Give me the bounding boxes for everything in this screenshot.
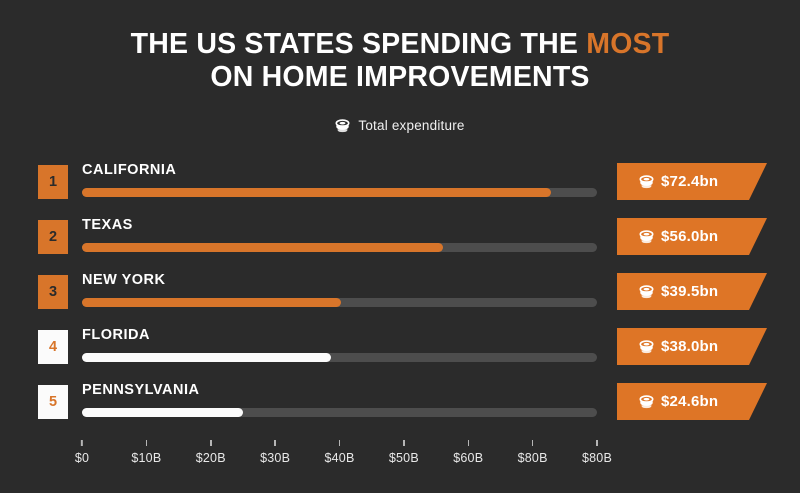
axis-tick: $80B	[582, 440, 612, 465]
coin-stack-icon	[639, 175, 654, 189]
title-accent-word: MOST	[586, 28, 669, 60]
axis-tick-label: $40B	[325, 451, 355, 465]
axis-tick-mark	[403, 440, 405, 446]
axis-tick-label: $0	[75, 451, 89, 465]
x-axis: $0 $10B $20B $30B $40B $50B $60B $80B	[82, 440, 597, 480]
axis-tick: $80B	[518, 440, 548, 465]
coin-stack-icon	[335, 119, 350, 133]
value-label: $38.0bn	[661, 338, 718, 355]
axis-tick: $20B	[196, 440, 226, 465]
state-label: TEXAS	[82, 217, 133, 233]
axis-tick-label: $60B	[453, 451, 483, 465]
axis-tick-mark	[81, 440, 83, 446]
list-item[interactable]: 5 PENNSYLVANIA $24.6bn	[0, 380, 800, 435]
axis-tick-mark	[274, 440, 276, 446]
state-label: CALIFORNIA	[82, 162, 176, 178]
bar-track	[82, 298, 597, 307]
value-badge: $56.0bn	[617, 218, 767, 255]
axis-tick-mark	[339, 440, 341, 446]
value-label: $72.4bn	[661, 173, 718, 190]
axis-tick: $50B	[389, 440, 419, 465]
axis-tick: $30B	[260, 440, 290, 465]
page-title: THE US STATES SPENDING THE MOST ON HOME …	[0, 28, 800, 94]
value-label: $39.5bn	[661, 283, 718, 300]
coin-stack-icon	[639, 285, 654, 299]
coin-stack-icon	[639, 395, 654, 409]
axis-tick-label: $30B	[260, 451, 290, 465]
axis-tick: $60B	[453, 440, 483, 465]
ranking-list: 1 CALIFORNIA $72.4bn 2 TEXAS	[0, 160, 800, 435]
rank-badge: 1	[38, 165, 68, 199]
rank-badge: 3	[38, 275, 68, 309]
list-item[interactable]: 4 FLORIDA $38.0bn	[0, 325, 800, 380]
list-item[interactable]: 3 NEW YORK $39.5bn	[0, 270, 800, 325]
legend-label: Total expenditure	[358, 118, 464, 133]
title-line-1: THE US STATES SPENDING THE MOST	[0, 28, 800, 61]
bar-track	[82, 408, 597, 417]
bar-fill	[82, 188, 551, 197]
value-badge: $39.5bn	[617, 273, 767, 310]
list-item[interactable]: 2 TEXAS $56.0bn	[0, 215, 800, 270]
value-badge: $72.4bn	[617, 163, 767, 200]
coin-stack-icon	[639, 340, 654, 354]
bar-track	[82, 243, 597, 252]
coin-stack-icon	[639, 230, 654, 244]
list-item[interactable]: 1 CALIFORNIA $72.4bn	[0, 160, 800, 215]
bar-fill	[82, 298, 341, 307]
state-label: NEW YORK	[82, 272, 166, 288]
axis-tick-mark	[596, 440, 598, 446]
axis-tick-label: $50B	[389, 451, 419, 465]
infographic-root: THE US STATES SPENDING THE MOST ON HOME …	[0, 0, 800, 493]
value-label: $56.0bn	[661, 228, 718, 245]
rank-badge: 5	[38, 385, 68, 419]
state-label: FLORIDA	[82, 327, 150, 343]
axis-tick-mark	[210, 440, 212, 446]
axis-tick: $0	[75, 440, 89, 465]
title-line-1-prefix: THE US STATES SPENDING THE	[131, 28, 587, 60]
axis-tick-label: $80B	[582, 451, 612, 465]
rank-badge: 2	[38, 220, 68, 254]
axis-tick-mark	[468, 440, 470, 446]
axis-tick-mark	[146, 440, 148, 446]
axis-tick-mark	[532, 440, 534, 446]
axis-tick-label: $10B	[131, 451, 161, 465]
axis-tick: $40B	[325, 440, 355, 465]
bar-fill	[82, 353, 331, 362]
axis-tick-label: $80B	[518, 451, 548, 465]
rank-badge: 4	[38, 330, 68, 364]
bar-track	[82, 188, 597, 197]
bar-track	[82, 353, 597, 362]
chart-legend: Total expenditure	[0, 118, 800, 133]
bar-fill	[82, 408, 243, 417]
value-badge: $24.6bn	[617, 383, 767, 420]
value-label: $24.6bn	[661, 393, 718, 410]
title-line-2: ON HOME IMPROVEMENTS	[0, 61, 800, 94]
value-badge: $38.0bn	[617, 328, 767, 365]
bar-fill	[82, 243, 443, 252]
axis-tick-label: $20B	[196, 451, 226, 465]
axis-tick: $10B	[131, 440, 161, 465]
state-label: PENNSYLVANIA	[82, 382, 199, 398]
